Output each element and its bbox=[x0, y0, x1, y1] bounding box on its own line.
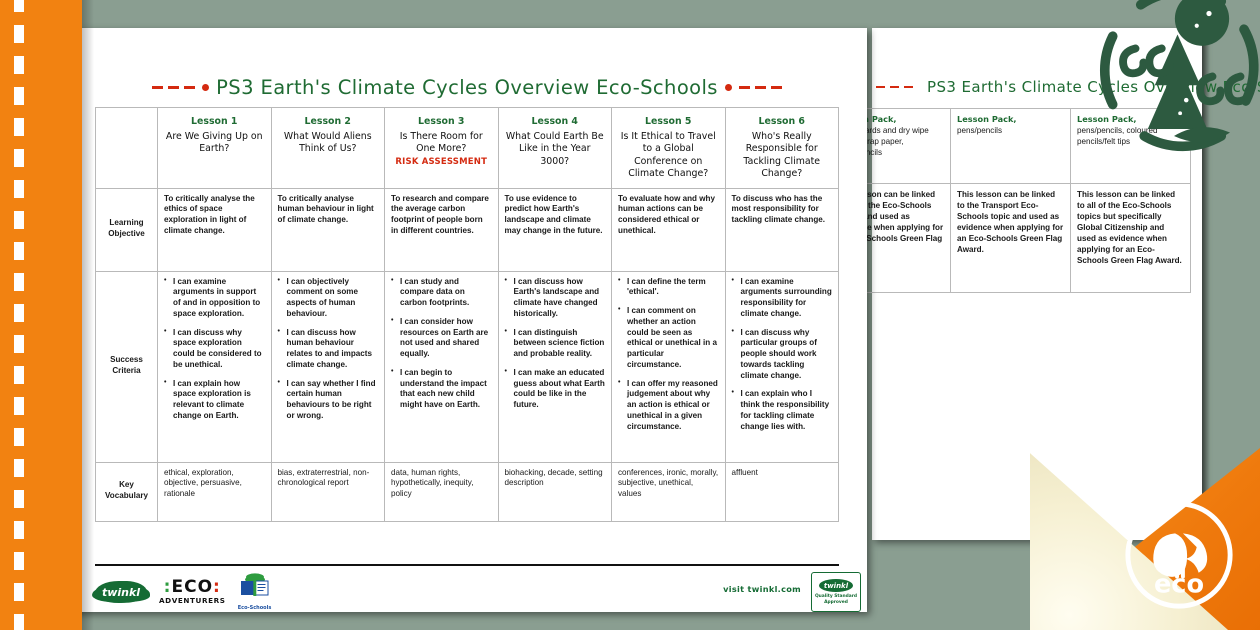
list-item: I can discuss how Earth's landscape and … bbox=[505, 277, 606, 320]
eco-schools-book-tree-icon bbox=[238, 573, 272, 599]
success-criteria-4: I can discuss how Earth's landscape and … bbox=[498, 271, 612, 462]
row-label-lo-line2: Objective bbox=[102, 229, 151, 240]
list-item: I can offer my reasoned judgement about … bbox=[618, 379, 719, 433]
key-vocabulary-6: affluent bbox=[725, 462, 839, 521]
list-item: I can say whether I find certain human b… bbox=[278, 379, 379, 422]
list-item: I can distinguish between science fictio… bbox=[505, 328, 606, 360]
key-vocabulary-3: data, human rights, hypothetically, ineq… bbox=[385, 462, 499, 521]
twinkl-logo[interactable]: twinkl bbox=[95, 581, 147, 603]
lesson-number-2: Lesson 2 bbox=[278, 116, 379, 129]
lesson-header-4: Lesson 4 What Could Earth Be Like in the… bbox=[498, 108, 612, 189]
eco-word: ECO bbox=[171, 577, 213, 597]
row-label-key-vocabulary: Key Vocabulary bbox=[96, 462, 158, 521]
eco-adventurers-title: :ECO: bbox=[159, 579, 226, 596]
resource-cell-3: Lesson Pack, pens/pencils, coloured penc… bbox=[1071, 109, 1191, 184]
success-criteria-list-5: I can define the term 'ethical'. I can c… bbox=[618, 277, 719, 433]
key-vocabulary-5: conferences, ironic, morally, subjective… bbox=[612, 462, 726, 521]
corner-cell bbox=[96, 108, 158, 189]
row-label-kv-line1: Key bbox=[102, 480, 151, 491]
table-row-learning-objective: Learning Objective To critically analyse… bbox=[96, 188, 839, 271]
eco-stamp-text: eco bbox=[1154, 569, 1204, 599]
page-2-title: PS3 Earth's Climate Cycles Overview Eco-… bbox=[927, 78, 1260, 96]
page-curl-corner: eco bbox=[1030, 448, 1260, 630]
overview-page-1[interactable]: PS3 Earth's Climate Cycles Overview Eco-… bbox=[67, 28, 867, 612]
lesson-title-2: What Would Aliens Think of Us? bbox=[278, 131, 379, 156]
link-cell-2: This lesson can be linked to the Transpo… bbox=[951, 184, 1071, 293]
twinkl-stamp-caption: Quality Standard Approved bbox=[812, 594, 860, 605]
table-row-key-vocabulary: Key Vocabulary ethical, exploration, obj… bbox=[96, 462, 839, 521]
success-criteria-3: I can study and compare data on carbon f… bbox=[385, 271, 499, 462]
screenshot-stage: PS3 Earth's Climate Cycles Overview Eco-… bbox=[0, 0, 1260, 630]
link-cell-3: This lesson can be linked to all of the … bbox=[1071, 184, 1191, 293]
lesson-title-6: Who's Really Responsible for Tackling Cl… bbox=[732, 131, 833, 181]
page-2-title-row: PS3 Earth's Climate Cycles Overview Eco-… bbox=[872, 78, 1206, 96]
resource-head-2: Lesson Pack, bbox=[957, 114, 1064, 125]
list-item: I can discuss why space exploration coul… bbox=[164, 328, 265, 371]
eco-schools-label: Eco-Schools bbox=[238, 605, 272, 611]
list-item: I can examine arguments in support of an… bbox=[164, 277, 265, 320]
twinkl-stamp-logo: twinkl bbox=[819, 579, 853, 592]
table-row-links: This lesson can be linked to all of the … bbox=[831, 184, 1191, 293]
dot-decoration-left-icon bbox=[202, 84, 209, 91]
page-1-title: PS3 Earth's Climate Cycles Overview Eco-… bbox=[216, 76, 718, 99]
success-criteria-1: I can examine arguments in support of an… bbox=[158, 271, 272, 462]
row-label-sc-line2: Criteria bbox=[102, 366, 151, 377]
row-label-success-criteria: Success Criteria bbox=[96, 271, 158, 462]
resource-body-2: pens/pencils bbox=[957, 125, 1064, 136]
resource-body-3: pens/pencils, coloured pencils/felt tips bbox=[1077, 125, 1184, 147]
visit-twinkl-link[interactable]: visit twinkl.com bbox=[723, 584, 801, 594]
success-criteria-list-6: I can examine arguments surrounding resp… bbox=[732, 277, 833, 433]
footer-divider bbox=[95, 564, 839, 566]
list-item: I can discuss how human behaviour relate… bbox=[278, 328, 379, 371]
eco-stamp-logo-icon: eco bbox=[1120, 496, 1238, 614]
lesson-header-1: Lesson 1 Are We Giving Up on Earth? bbox=[158, 108, 272, 189]
lesson-number-4: Lesson 4 bbox=[505, 116, 606, 129]
row-label-learning-objective: Learning Objective bbox=[96, 188, 158, 271]
success-criteria-list-3: I can study and compare data on carbon f… bbox=[391, 277, 492, 411]
list-item: I can explain how space exploration is r… bbox=[164, 379, 265, 422]
learning-objective-1: To critically analyse the ethics of spac… bbox=[158, 188, 272, 271]
list-item: I can study and compare data on carbon f… bbox=[391, 277, 492, 309]
list-item: I can objectively comment on some aspect… bbox=[278, 277, 379, 320]
resource-cell-2: Lesson Pack, pens/pencils bbox=[951, 109, 1071, 184]
eco-adventurers-logo: :ECO: ADVENTURERS bbox=[159, 579, 226, 604]
learning-objective-5: To evaluate how and why human actions ca… bbox=[612, 188, 726, 271]
success-criteria-list-1: I can examine arguments in support of an… bbox=[164, 277, 265, 422]
lesson-title-1: Are We Giving Up on Earth? bbox=[164, 131, 265, 156]
resource-head-3: Lesson Pack, bbox=[1077, 114, 1184, 125]
list-item: I can comment on whether an action could… bbox=[618, 306, 719, 371]
twinkl-quality-stamp: twinkl Quality Standard Approved bbox=[811, 572, 861, 612]
eco-dot-right-icon: : bbox=[213, 577, 221, 597]
lesson-overview-table: Lesson 1 Are We Giving Up on Earth? Less… bbox=[95, 107, 839, 522]
dash-decoration-right-icon bbox=[739, 86, 782, 89]
list-item: I can define the term 'ethical'. bbox=[618, 277, 719, 299]
success-criteria-2: I can objectively comment on some aspect… bbox=[271, 271, 385, 462]
dash-decoration-left-icon bbox=[152, 86, 195, 89]
dash-decoration-left-icon bbox=[876, 86, 913, 89]
list-item: I can begin to understand the impact tha… bbox=[391, 368, 492, 411]
success-criteria-6: I can examine arguments surrounding resp… bbox=[725, 271, 839, 462]
table-row-resources: Lesson Pack, whiteboards and dry wipe pe… bbox=[831, 109, 1191, 184]
success-criteria-list-2: I can objectively comment on some aspect… bbox=[278, 277, 379, 422]
list-item: I can consider how resources on Earth ar… bbox=[391, 317, 492, 360]
row-label-lo-line1: Learning bbox=[102, 218, 151, 229]
key-vocabulary-1: ethical, exploration, objective, persuas… bbox=[158, 462, 272, 521]
list-item: I can make an educated guess about what … bbox=[505, 368, 606, 411]
list-item: I can explain who I think the responsibi… bbox=[732, 389, 833, 432]
list-item: I can discuss why particular groups of p… bbox=[732, 328, 833, 382]
binder-stitching-icon bbox=[14, 0, 24, 630]
key-vocabulary-2: bias, extraterrestrial, non-chronologica… bbox=[271, 462, 385, 521]
lesson-header-5: Lesson 5 Is It Ethical to Travel to a Gl… bbox=[612, 108, 726, 189]
lesson-header-6: Lesson 6 Who's Really Responsible for Ta… bbox=[725, 108, 839, 189]
key-vocabulary-4: biohacking, decade, setting description bbox=[498, 462, 612, 521]
eco-schools-logo: Eco-Schools bbox=[238, 573, 272, 611]
success-criteria-list-4: I can discuss how Earth's landscape and … bbox=[505, 277, 606, 411]
row-label-sc-line1: Success bbox=[102, 355, 151, 366]
learning-objective-4: To use evidence to predict how Earth's l… bbox=[498, 188, 612, 271]
table-header-row: Lesson 1 Are We Giving Up on Earth? Less… bbox=[96, 108, 839, 189]
lesson-title-4: What Could Earth Be Like in the Year 300… bbox=[505, 131, 606, 169]
lesson-header-3: Lesson 3 Is There Room for One More? RIS… bbox=[385, 108, 499, 189]
learning-objective-6: To discuss who has the most responsibili… bbox=[725, 188, 839, 271]
learning-objective-2: To critically analyse human behaviour in… bbox=[271, 188, 385, 271]
success-criteria-5: I can define the term 'ethical'. I can c… bbox=[612, 271, 726, 462]
table-row-success-criteria: Success Criteria I can examine arguments… bbox=[96, 271, 839, 462]
lesson-title-5: Is It Ethical to Travel to a Global Conf… bbox=[618, 131, 719, 181]
lesson-number-5: Lesson 5 bbox=[618, 116, 719, 129]
row-label-kv-line2: Vocabulary bbox=[102, 491, 151, 502]
lesson-title-3: Is There Room for One More? bbox=[391, 131, 492, 156]
page-1-title-row: PS3 Earth's Climate Cycles Overview Eco-… bbox=[67, 76, 867, 99]
lesson-number-3: Lesson 3 bbox=[391, 116, 492, 129]
eco-adventurers-subtitle: ADVENTURERS bbox=[159, 597, 226, 604]
lesson-header-2: Lesson 2 What Would Aliens Think of Us? bbox=[271, 108, 385, 189]
learning-objective-3: To research and compare the average carb… bbox=[385, 188, 499, 271]
lesson-number-1: Lesson 1 bbox=[164, 116, 265, 129]
lesson-number-6: Lesson 6 bbox=[732, 116, 833, 129]
risk-assessment-badge: RISK ASSESSMENT bbox=[391, 157, 492, 168]
list-item: I can examine arguments surrounding resp… bbox=[732, 277, 833, 320]
binder-strip bbox=[0, 0, 82, 630]
binder-shadow bbox=[82, 0, 94, 630]
dot-decoration-right-icon bbox=[725, 84, 732, 91]
resources-table: Lesson Pack, whiteboards and dry wipe pe… bbox=[830, 108, 1191, 293]
